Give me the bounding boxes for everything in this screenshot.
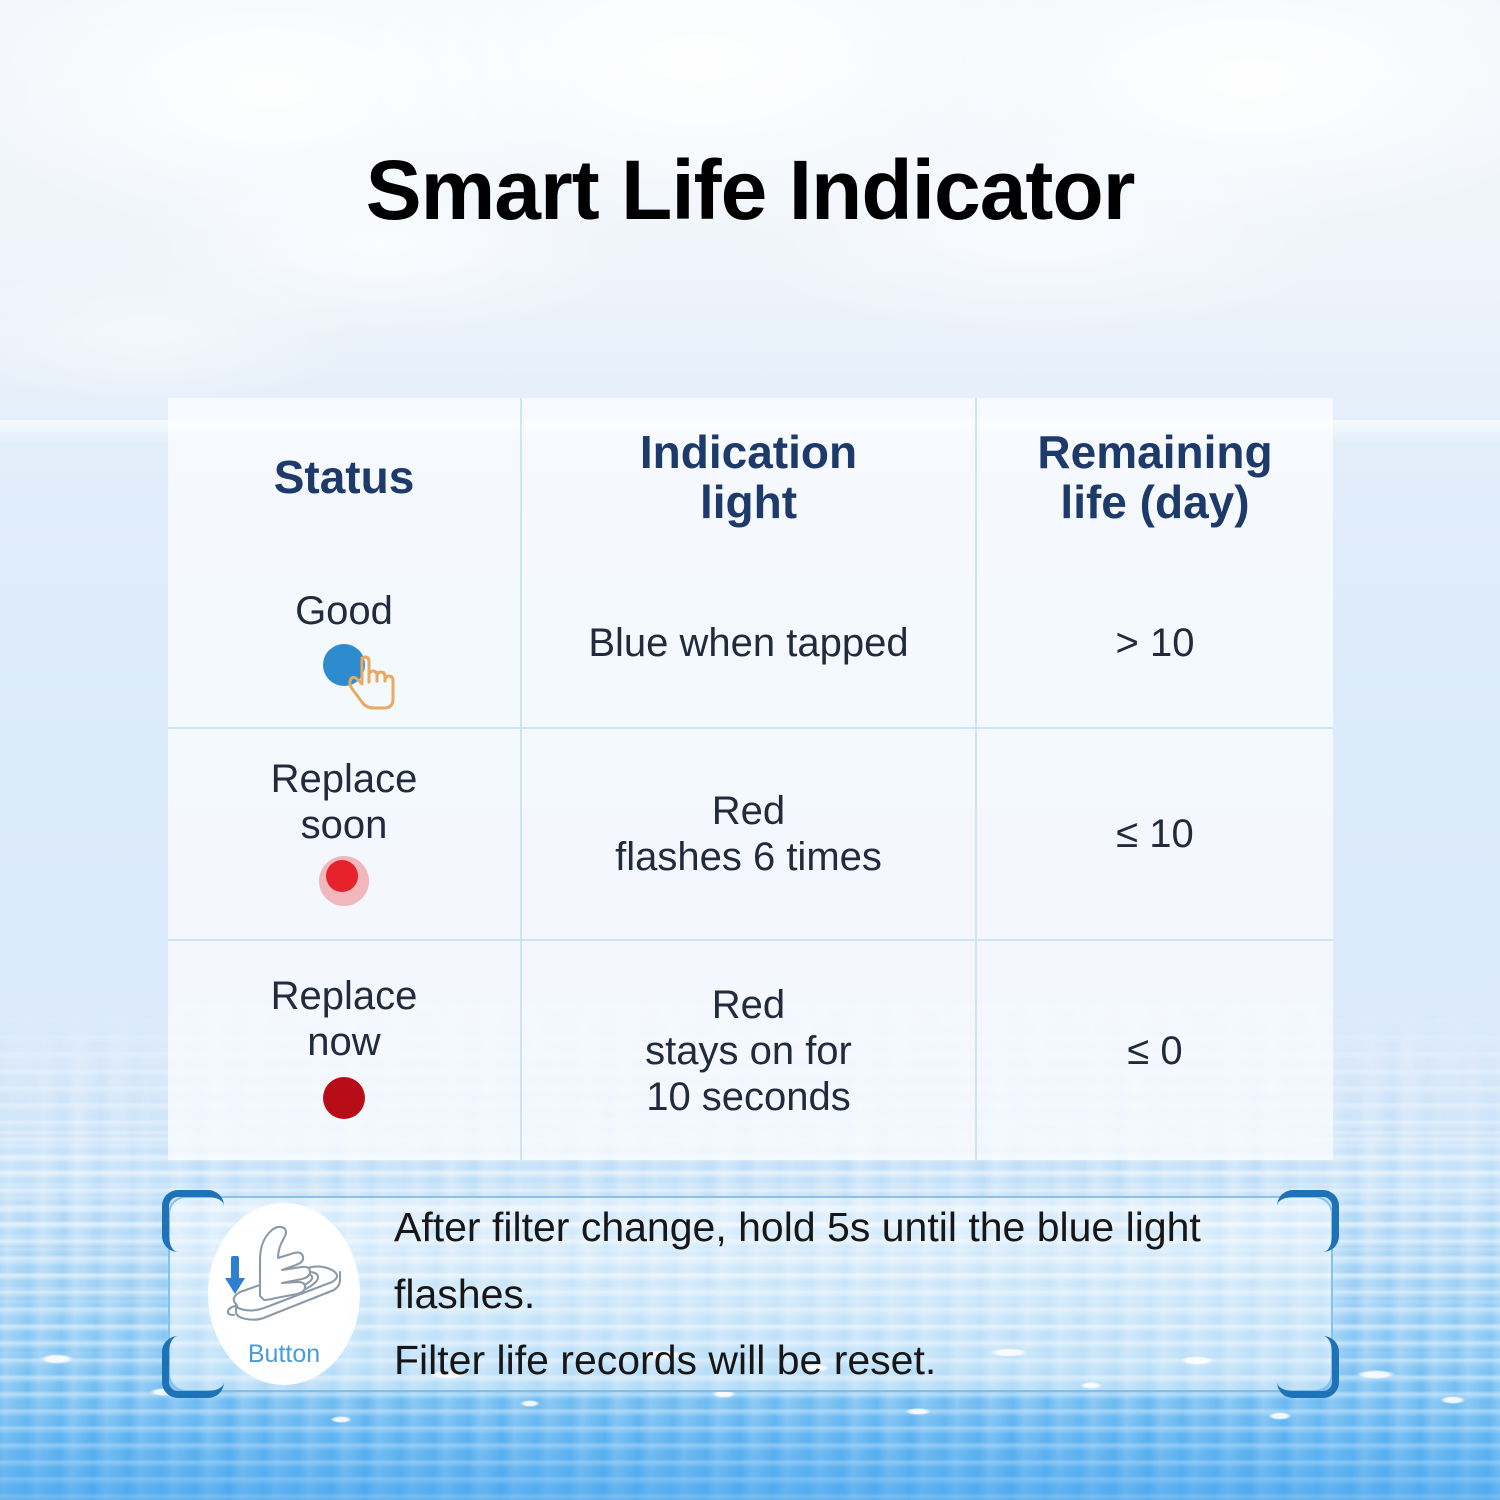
status-label: Replace soon — [271, 756, 418, 848]
remaining-life-cell-good: > 10 — [976, 558, 1333, 728]
page-title: Smart Life Indicator — [0, 148, 1500, 232]
corner-bracket-top-left — [162, 1190, 224, 1252]
corner-bracket-top-right — [1277, 1190, 1339, 1252]
infographic-root: Smart Life Indicator Status Indication l… — [0, 0, 1500, 1500]
table-header-row: Status Indication light Remaining life (… — [168, 398, 1333, 558]
callout-text-block: After filter change, hold 5s until the b… — [394, 1194, 1331, 1393]
status-label: Good — [295, 588, 393, 634]
callout-line-2: Filter life records will be reset. — [394, 1327, 1331, 1393]
red-light-dot-icon — [326, 860, 358, 892]
status-cell-replace-soon: Replace soon — [168, 728, 521, 940]
column-header-remaining-life: Remaining life (day) — [976, 398, 1333, 558]
status-label: Replace now — [271, 973, 418, 1065]
button-badge-label: Button — [248, 1340, 320, 1369]
table-row: Replace soon Red flashes 6 times ≤ 10 — [168, 728, 1333, 940]
indicator-good — [284, 640, 404, 698]
cloud-wisp — [0, 260, 360, 410]
reset-instruction-callout: Button After filter change, hold 5s unti… — [168, 1196, 1333, 1392]
corner-bracket-bottom-left — [162, 1336, 224, 1398]
down-arrow-icon — [225, 1256, 245, 1294]
column-header-indication-light: Indication light — [521, 398, 976, 558]
callout-line-1: After filter change, hold 5s until the b… — [394, 1194, 1331, 1327]
indication-light-cell-good: Blue when tapped — [521, 558, 976, 728]
column-header-status: Status — [168, 398, 521, 558]
corner-bracket-bottom-right — [1277, 1336, 1339, 1398]
status-cell-replace-now: Replace now — [168, 940, 521, 1160]
tap-hand-cursor-icon — [346, 654, 402, 712]
indicator-replace-now — [284, 1071, 404, 1129]
status-table-panel: Status Indication light Remaining life (… — [168, 398, 1333, 1160]
remaining-life-cell-replace-soon: ≤ 10 — [976, 728, 1333, 940]
status-cell-good: Good — [168, 558, 521, 728]
remaining-life-cell-replace-now: ≤ 0 — [976, 940, 1333, 1160]
indication-light-cell-replace-now: Red stays on for 10 seconds — [521, 940, 976, 1160]
red-light-solid-dot-icon — [323, 1077, 365, 1119]
hand-press-button-icon — [216, 1220, 352, 1338]
table-row: Good — [168, 558, 1333, 728]
indicator-replace-soon — [284, 854, 404, 912]
button-illustration-badge: Button — [208, 1203, 360, 1385]
table-row: Replace now Red stays on for 10 seconds … — [168, 940, 1333, 1160]
status-table: Status Indication light Remaining life (… — [168, 398, 1333, 1160]
indication-light-cell-replace-soon: Red flashes 6 times — [521, 728, 976, 940]
